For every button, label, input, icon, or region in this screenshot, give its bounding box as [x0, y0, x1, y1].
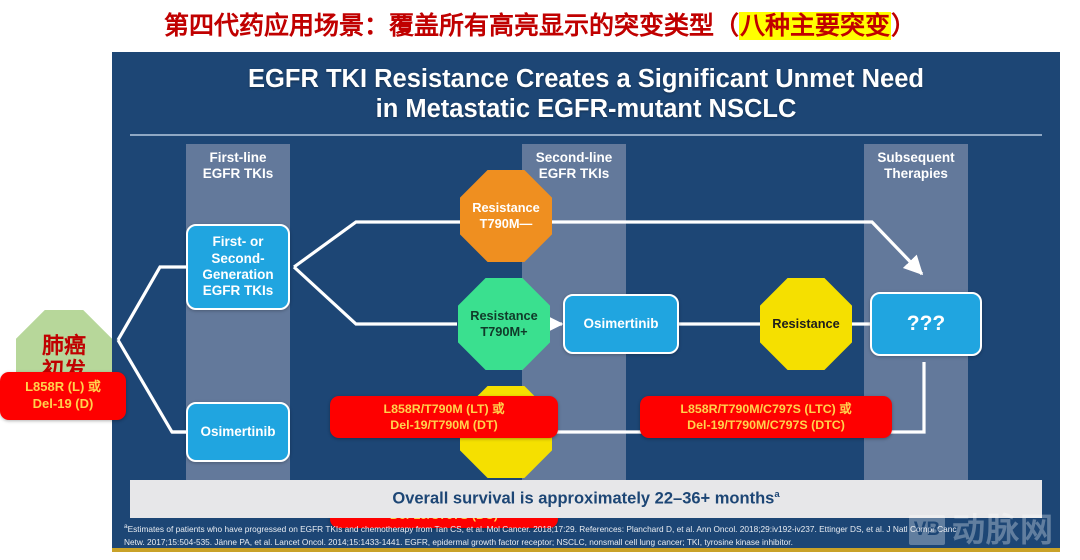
callout-initial-mutations: L858R (L) 或Del-19 (D) [0, 372, 126, 420]
node-first-second-gen-label: First- orSecond-GenerationEGFR TKIs [202, 234, 273, 300]
node-first-second-gen-egfr-tkis[interactable]: First- orSecond-GenerationEGFR TKIs [186, 224, 290, 310]
node-resistance-t790m-positive-label: ResistanceT790M+ [470, 308, 538, 340]
node-osimertinib-second-line-label: Osimertinib [583, 316, 658, 332]
page-title-prefix: 第四代药应用场景：覆盖所有高亮显示的突变类型（ [164, 12, 739, 40]
node-resistance-t790m-negative-label: ResistanceT790M— [472, 200, 540, 232]
slide-canvas: 第四代药应用场景：覆盖所有高亮显示的突变类型（八种主要突变） EGFR TKI … [0, 0, 1080, 560]
overall-survival-footnote-marker: a [774, 489, 779, 500]
page-title-highlight: 八种主要突变 [739, 12, 891, 40]
callout-triple-mutations-label: L858R/T790M/C797S (LTC) 或Del-19/T790M/C7… [680, 401, 851, 433]
footnote-line-2: Netw. 2017;15:504-535. Jänne PA, et al. … [124, 536, 1052, 549]
callout-t790m-mutations-label: L858R/T790M (LT) 或Del-19/T790M (DT) [384, 401, 505, 433]
node-osimertinib-second-line[interactable]: Osimertinib [563, 294, 679, 354]
page-title-suffix: ） [891, 12, 916, 40]
callout-initial-mutations-label: L858R (L) 或Del-19 (D) [25, 379, 101, 413]
callout-triple-mutations: L858R/T790M/C797S (LTC) 或Del-19/T790M/C7… [640, 396, 892, 438]
slide-bottom-rule [112, 548, 1060, 552]
page-title: 第四代药应用场景：覆盖所有高亮显示的突变类型（八种主要突变） [0, 6, 1080, 42]
footnote: aEstimates of patients who have progress… [118, 522, 1058, 548]
node-osimertinib-first-line-label: Osimertinib [200, 424, 275, 440]
overall-survival-text: Overall survival is approximately 22–36+… [392, 489, 779, 509]
slide-body: EGFR TKI Resistance Creates a Significan… [112, 52, 1060, 552]
footnote-line-1: aEstimates of patients who have progress… [124, 522, 1052, 536]
node-resistance-yellow-right-label: Resistance [772, 316, 840, 332]
node-unknown-therapy[interactable]: ??? [870, 292, 982, 356]
callout-t790m-mutations: L858R/T790M (LT) 或Del-19/T790M (DT) [330, 396, 558, 438]
node-osimertinib-first-line[interactable]: Osimertinib [186, 402, 290, 462]
node-unknown-therapy-label: ??? [907, 311, 945, 337]
overall-survival-strip: Overall survival is approximately 22–36+… [130, 480, 1042, 518]
